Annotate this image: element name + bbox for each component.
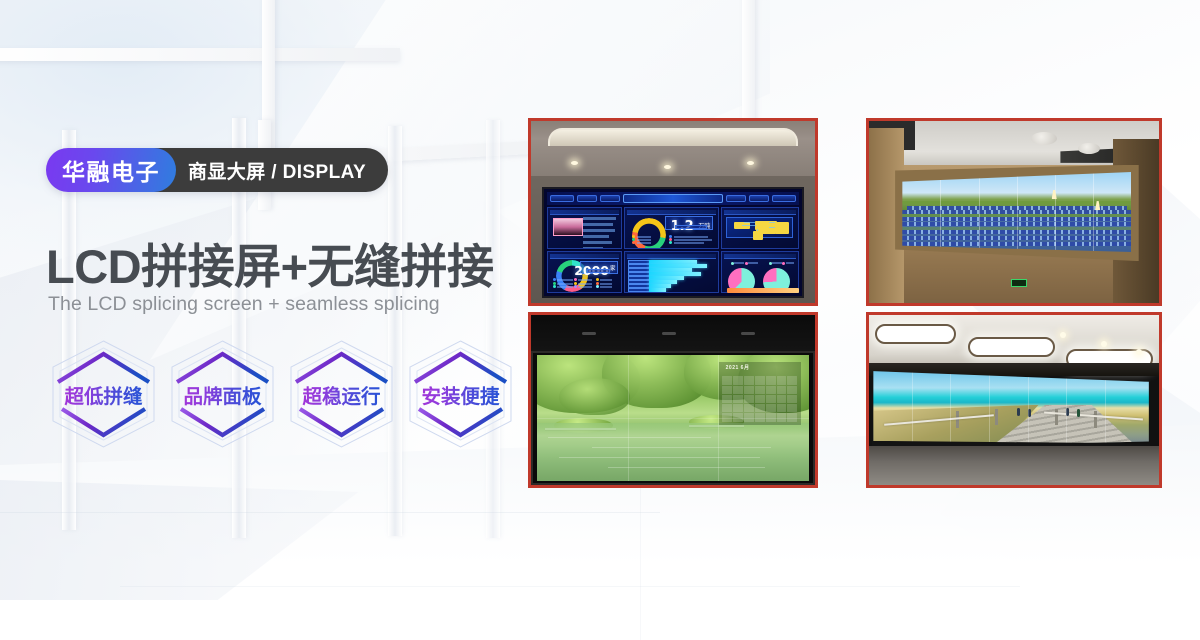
ceiling-spot-2 (1101, 341, 1107, 347)
dashboard-tab (772, 195, 796, 202)
lake-water (537, 423, 809, 481)
background-hairline-3 (640, 470, 641, 640)
product-banner: 华融电子 商显大屏 / DISPLAY LCD拼接屏+无缝拼接 The LCD … (0, 0, 1200, 640)
ceiling-cove-light-1 (875, 324, 956, 344)
page-title: LCD拼接屏+无缝拼接 (46, 228, 494, 297)
feature-label-2: 品牌面板 (183, 380, 261, 409)
spotlight-2 (664, 165, 671, 169)
panel-thumbnail (553, 218, 583, 236)
legend-dot (669, 241, 672, 244)
dashboard-tab (600, 195, 620, 202)
spotlight-3 (747, 161, 754, 165)
dashboard-panel-overview (547, 207, 621, 249)
dashboard-video-wall: 1.2 万吨 (542, 187, 803, 298)
kpi-unit-count: 家 (610, 264, 616, 272)
ceiling-spot-3 (1136, 349, 1142, 355)
panel-titlebar (724, 210, 796, 215)
dashboard-ticker (727, 288, 799, 293)
dashboard-panel-kpi-count: 2000 家 (547, 251, 621, 293)
exit-sign (1011, 279, 1027, 287)
feature-badge-4: 安装便捷 (403, 338, 518, 450)
figure-1 (1017, 408, 1020, 416)
spotlight-1 (571, 161, 578, 165)
dashboard-tab (577, 195, 597, 202)
lobby-floor (869, 446, 1159, 485)
bezel-label-1 (582, 332, 596, 335)
flow-diagram (726, 217, 793, 238)
feature-badge-1: 超低拼缝 (46, 338, 161, 450)
photo-beach-boardwalk-video-wall[interactable] (866, 312, 1162, 488)
dashboard-panel-ranking-bars (624, 251, 719, 293)
ceiling-cove-light-2 (968, 337, 1055, 357)
panel-titlebar (550, 210, 618, 215)
dashboard-panel-flow-map (721, 207, 799, 249)
brand-name-pill: 华融电子 (46, 148, 176, 192)
feature-badge-list: 超低拼缝 品牌面板 超稳运行 (46, 338, 518, 450)
kpi-subbox (587, 269, 610, 273)
dashboard-tab (726, 195, 746, 202)
dashboard-header (547, 192, 798, 205)
video-wall-screen (902, 172, 1131, 252)
figure-4 (1077, 409, 1080, 417)
rope-post-2 (995, 409, 998, 424)
calendar-overlay: 2021 6月 (719, 362, 800, 425)
dashboard-panel-kpi-tonnage: 1.2 万吨 (624, 207, 719, 249)
dashboard-tab (550, 195, 574, 202)
photo-solar-farm-video-wall[interactable] (866, 118, 1162, 306)
feature-label-3: 超稳运行 (302, 380, 380, 409)
dashboard-panel-pie-pair (721, 251, 799, 293)
bezel-label-3 (741, 332, 755, 335)
panel-titlebar (627, 210, 716, 215)
bezel-label-2 (662, 332, 676, 335)
feature-badge-3: 超稳运行 (284, 338, 399, 450)
kpi-subbox (675, 225, 707, 229)
feature-label-4: 安装便捷 (421, 380, 499, 409)
dashboard-panel-grid: 1.2 万吨 (547, 207, 798, 293)
video-wall-screen (873, 371, 1149, 448)
calendar-title: 2021 6月 (726, 364, 750, 371)
calendar-grid (722, 376, 797, 421)
dashboard-platform-title (623, 194, 722, 203)
panel-titlebar (627, 254, 716, 259)
cove-light (548, 128, 798, 146)
brand-badge-group: 华融电子 商显大屏 / DISPLAY (46, 148, 388, 192)
page-subtitle: The LCD splicing screen + seamless splic… (48, 293, 440, 316)
panel-titlebar (724, 254, 796, 259)
photo-willow-lake-video-wall[interactable]: 2021 6月 (528, 312, 818, 488)
content-column: 华融电子 商显大屏 / DISPLAY LCD拼接屏+无缝拼接 The LCD … (46, 0, 516, 640)
willow-canopy-5 (559, 378, 630, 416)
photo-control-room-dashboard[interactable]: 1.2 万吨 (528, 118, 818, 306)
ceiling-vent-2 (1078, 143, 1100, 154)
panel-text-block (583, 217, 618, 248)
dashboard-tab (749, 195, 769, 202)
panel-titlebar (550, 254, 618, 259)
rope-post-4 (1094, 411, 1097, 428)
feature-badge-2: 品牌面板 (165, 338, 280, 450)
feature-label-1: 超低拼缝 (64, 380, 142, 409)
video-wall-screen: 2021 6月 (537, 355, 809, 481)
